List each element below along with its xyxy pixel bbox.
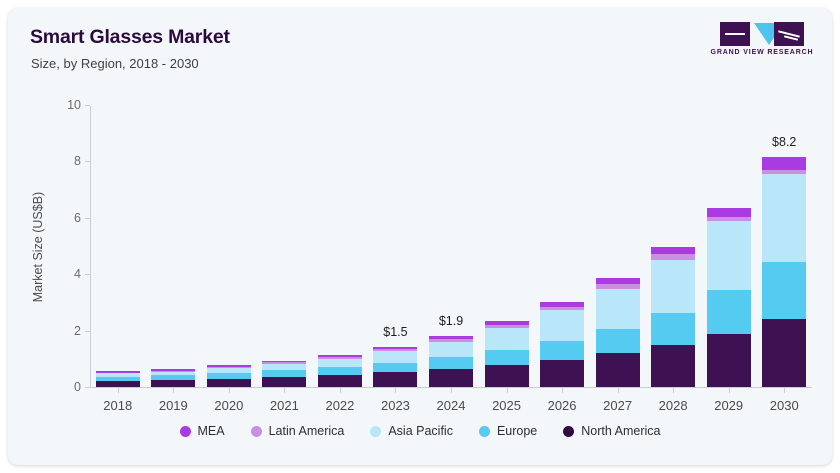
bar-segment-latin-america[interactable] [373,349,417,351]
bar-segment-north-america[interactable] [262,377,306,387]
bar-segment-europe[interactable] [485,350,529,365]
bar-segment-mea[interactable] [762,157,806,171]
legend-item-latin-america[interactable]: Latin America [251,424,345,438]
x-axis-tick-label: 2021 [270,398,299,413]
bar-segment-europe[interactable] [373,363,417,373]
bar-segment-north-america[interactable] [96,381,140,387]
bar-segment-mea[interactable] [318,355,362,357]
legend-color-dot-icon [251,426,262,437]
bar-segment-europe[interactable] [318,367,362,375]
x-axis-tick-mark [562,388,563,393]
bar-segment-north-america[interactable] [762,319,806,387]
bar-value-label: $1.9 [439,314,463,328]
logo-slash-icon [725,33,745,35]
bar-segment-mea[interactable] [151,369,195,371]
y-axis-tick-mark [85,331,90,332]
legend-item-north-america[interactable]: North America [563,424,660,438]
stacked-bar[interactable] [540,302,584,387]
stacked-bar[interactable] [429,336,473,387]
bar-segment-mea[interactable] [651,247,695,254]
x-axis-tick-mark [340,388,341,393]
bar-segment-north-america[interactable] [707,334,751,387]
y-axis-tick-mark [85,218,90,219]
bar-segment-latin-america[interactable] [540,307,584,311]
x-axis-tick-label: 2022 [325,398,354,413]
bar-segment-europe[interactable] [207,373,251,378]
bar-segment-latin-america[interactable] [262,362,306,364]
x-axis-tick-mark [451,388,452,393]
bar-segment-mea[interactable] [207,365,251,367]
bar-segment-asia-pacific[interactable] [318,359,362,367]
bar-segment-asia-pacific[interactable] [262,364,306,370]
x-axis-tick-label: 2025 [492,398,521,413]
legend-item-asia-pacific[interactable]: Asia Pacific [370,424,453,438]
stacked-bar[interactable] [485,321,529,387]
logo-marks [710,22,814,48]
stacked-bar[interactable] [651,247,695,387]
bar-segment-mea[interactable] [373,347,417,349]
bar-segment-asia-pacific[interactable] [596,289,640,330]
bar-segment-asia-pacific[interactable] [540,310,584,341]
x-axis-tick-label: 2018 [103,398,132,413]
y-axis-tick-mark [85,387,90,388]
legend-color-dot-icon [180,426,191,437]
legend-item-mea[interactable]: MEA [180,424,225,438]
bar-segment-asia-pacific[interactable] [151,372,195,376]
bar-segment-asia-pacific[interactable] [485,328,529,350]
legend-label: Asia Pacific [388,424,453,438]
legend-label: MEA [198,424,225,438]
y-axis-tick-mark [85,161,90,162]
bar-segment-mea[interactable] [707,208,751,217]
y-axis-label: Market Size (US$B) [30,106,46,388]
legend-label: Latin America [269,424,345,438]
bar-segment-mea[interactable] [540,302,584,307]
bar-segment-latin-america[interactable] [596,284,640,289]
bar-segment-mea[interactable] [96,371,140,373]
bar-segment-north-america[interactable] [540,360,584,387]
x-axis-tick-mark [673,388,674,393]
x-axis-tick-mark [618,388,619,393]
y-axis-tick-label: 10 [67,98,81,112]
bar-segment-europe[interactable] [96,377,140,381]
legend-label: Europe [497,424,537,438]
bar-segment-mea[interactable] [262,361,306,363]
logo-square-left-icon [720,22,750,46]
bar-segment-north-america[interactable] [318,375,362,387]
bar-segment-asia-pacific[interactable] [707,221,751,290]
stacked-bar[interactable] [373,347,417,387]
bar-segment-latin-america[interactable] [429,339,473,342]
stacked-bar[interactable] [762,157,806,387]
page-title: Smart Glasses Market [30,26,230,49]
legend-label: North America [581,424,660,438]
stacked-bar[interactable] [707,208,751,387]
bar-value-label: $8.2 [772,135,796,149]
stacked-bar[interactable] [207,366,251,387]
bar-segment-asia-pacific[interactable] [762,174,806,261]
bar-segment-mea[interactable] [485,321,529,325]
bar-segment-europe[interactable] [651,313,695,345]
y-axis-line [90,106,91,388]
legend-color-dot-icon [563,426,574,437]
x-axis-tick-label: 2030 [770,398,799,413]
bar-segment-europe[interactable] [429,357,473,369]
x-axis-tick-label: 2019 [159,398,188,413]
bar-segment-europe[interactable] [540,341,584,360]
bar-segment-north-america[interactable] [373,372,417,387]
bar-segment-europe[interactable] [596,329,640,353]
x-axis-tick-mark [118,388,119,393]
y-axis-tick-label: 0 [74,380,81,394]
x-axis-tick-label: 2020 [214,398,243,413]
stacked-bar[interactable] [318,355,362,387]
bar-segment-north-america[interactable] [207,379,251,387]
y-axis-tick-label: 4 [74,267,81,281]
y-axis-tick-label: 2 [74,324,81,338]
bar-value-label: $1.5 [383,325,407,339]
x-axis-tick-mark [173,388,174,393]
bar-segment-mea[interactable] [596,278,640,284]
bar-segment-europe[interactable] [762,262,806,319]
grand-view-research-logo: GRAND VIEW RESEARCH [710,22,814,60]
bar-segment-north-america[interactable] [151,380,195,387]
x-axis-tick-mark [284,388,285,393]
bar-segment-latin-america[interactable] [651,254,695,259]
bar-segment-asia-pacific[interactable] [429,342,473,358]
stacked-bar[interactable] [596,278,640,387]
bar-segment-asia-pacific[interactable] [651,260,695,313]
y-axis-tick-mark [85,105,90,106]
y-axis-tick-label: 6 [74,211,81,225]
stacked-bar[interactable] [151,370,195,387]
legend-color-dot-icon [370,426,381,437]
x-axis-tick-mark [395,388,396,393]
x-axis-tick-label: 2023 [381,398,410,413]
chart-plot-area: 0246810 $1.5$1.9$8.2 2018201920202021202… [90,106,812,388]
x-axis-tick-mark [784,388,785,393]
bar-segment-europe[interactable] [707,290,751,334]
stacked-bar[interactable] [96,372,140,387]
legend-item-europe[interactable]: Europe [479,424,537,438]
logo-wordmark: GRAND VIEW RESEARCH [710,49,814,56]
x-axis-tick-label: 2027 [603,398,632,413]
bar-segment-north-america[interactable] [651,345,695,387]
bar-segment-north-america[interactable] [429,369,473,387]
x-axis-tick-mark [229,388,230,393]
x-axis-tick-mark [507,388,508,393]
x-axis-tick-mark [729,388,730,393]
bar-segment-north-america[interactable] [485,365,529,387]
bar-segment-latin-america[interactable] [762,170,806,174]
stacked-bar[interactable] [262,361,306,387]
bar-segment-latin-america[interactable] [318,357,362,359]
bar-segment-asia-pacific[interactable] [207,368,251,373]
chart-card: Smart Glasses Market Size, by Region, 20… [8,8,832,465]
y-axis-tick-label: 8 [74,154,81,168]
bar-segment-europe[interactable] [262,370,306,376]
bar-segment-latin-america[interactable] [707,217,751,221]
legend-color-dot-icon [479,426,490,437]
logo-square-right-icon [774,22,804,46]
x-axis-tick-label: 2029 [714,398,743,413]
chart-subtitle: Size, by Region, 2018 - 2030 [31,56,199,71]
chart-legend: MEALatin AmericaAsia PacificEuropeNorth … [8,424,832,438]
bar-segment-north-america[interactable] [596,353,640,387]
bar-segment-asia-pacific[interactable] [373,351,417,363]
bar-segment-latin-america[interactable] [485,325,529,328]
bar-segment-europe[interactable] [151,375,195,380]
x-axis-tick-label: 2028 [659,398,688,413]
y-axis-tick-mark [85,274,90,275]
x-axis-tick-label: 2024 [437,398,466,413]
bar-segment-asia-pacific[interactable] [96,373,140,376]
x-axis-tick-label: 2026 [548,398,577,413]
bar-segment-mea[interactable] [429,336,473,339]
